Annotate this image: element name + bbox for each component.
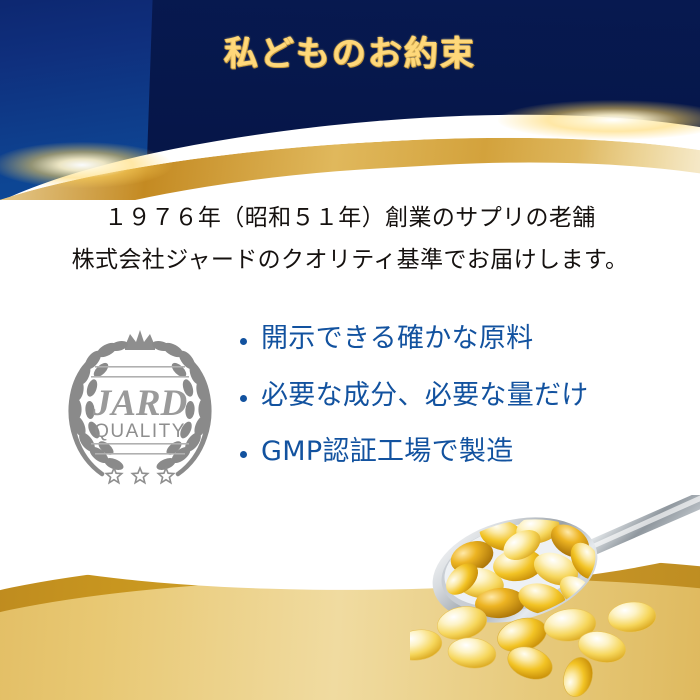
lead-line-1: １９７６年（昭和５１年）創業のサプリの老舗 — [0, 198, 700, 240]
star-icon — [132, 468, 147, 483]
product-image-spoon-with-capsules — [410, 495, 700, 700]
logo-divider-bottom — [91, 443, 189, 445]
logo-divider-bottom2 — [95, 453, 185, 455]
lead-line-2: 株式会社ジャードのクオリティ基準でお届けします。 — [0, 240, 700, 282]
star-icon — [158, 468, 173, 483]
list-item-label: 必要な成分、必要な量だけ — [261, 379, 589, 414]
list-item: 開示できる確かな原料 — [240, 322, 680, 357]
logo-subtitle-text: QUALITY — [94, 421, 186, 442]
bullet-dot-icon — [240, 338, 247, 345]
logo-brand-text: JARD — [92, 383, 188, 424]
page-title: 私どものお約束 — [0, 26, 700, 75]
lead-text: １９７６年（昭和５１年）創業のサプリの老舗 株式会社ジャードのクオリティ基準でお… — [0, 198, 700, 282]
star-icon — [106, 468, 121, 483]
bullet-dot-icon — [240, 395, 247, 402]
list-item: 必要な成分、必要な量だけ — [240, 379, 680, 414]
list-item-label: GMP認証工場で製造 — [261, 435, 514, 470]
promo-banner: 私どものお約束 １９７６年（昭和５１年）創業のサプリの老舗 株式会社ジャードのク… — [0, 0, 700, 700]
logo-stars — [106, 468, 173, 483]
logo-divider-top2 — [91, 376, 189, 378]
bullet-dot-icon — [240, 451, 247, 458]
crown-icon — [125, 330, 155, 350]
promise-list: 開示できる確かな原料 必要な成分、必要な量だけ GMP認証工場で製造 — [240, 322, 680, 492]
logo-divider-top — [95, 366, 185, 368]
list-item-label: 開示できる確かな原料 — [261, 322, 533, 357]
jard-quality-logo: JARD QUALITY — [57, 318, 223, 494]
list-item: GMP認証工場で製造 — [240, 435, 680, 470]
